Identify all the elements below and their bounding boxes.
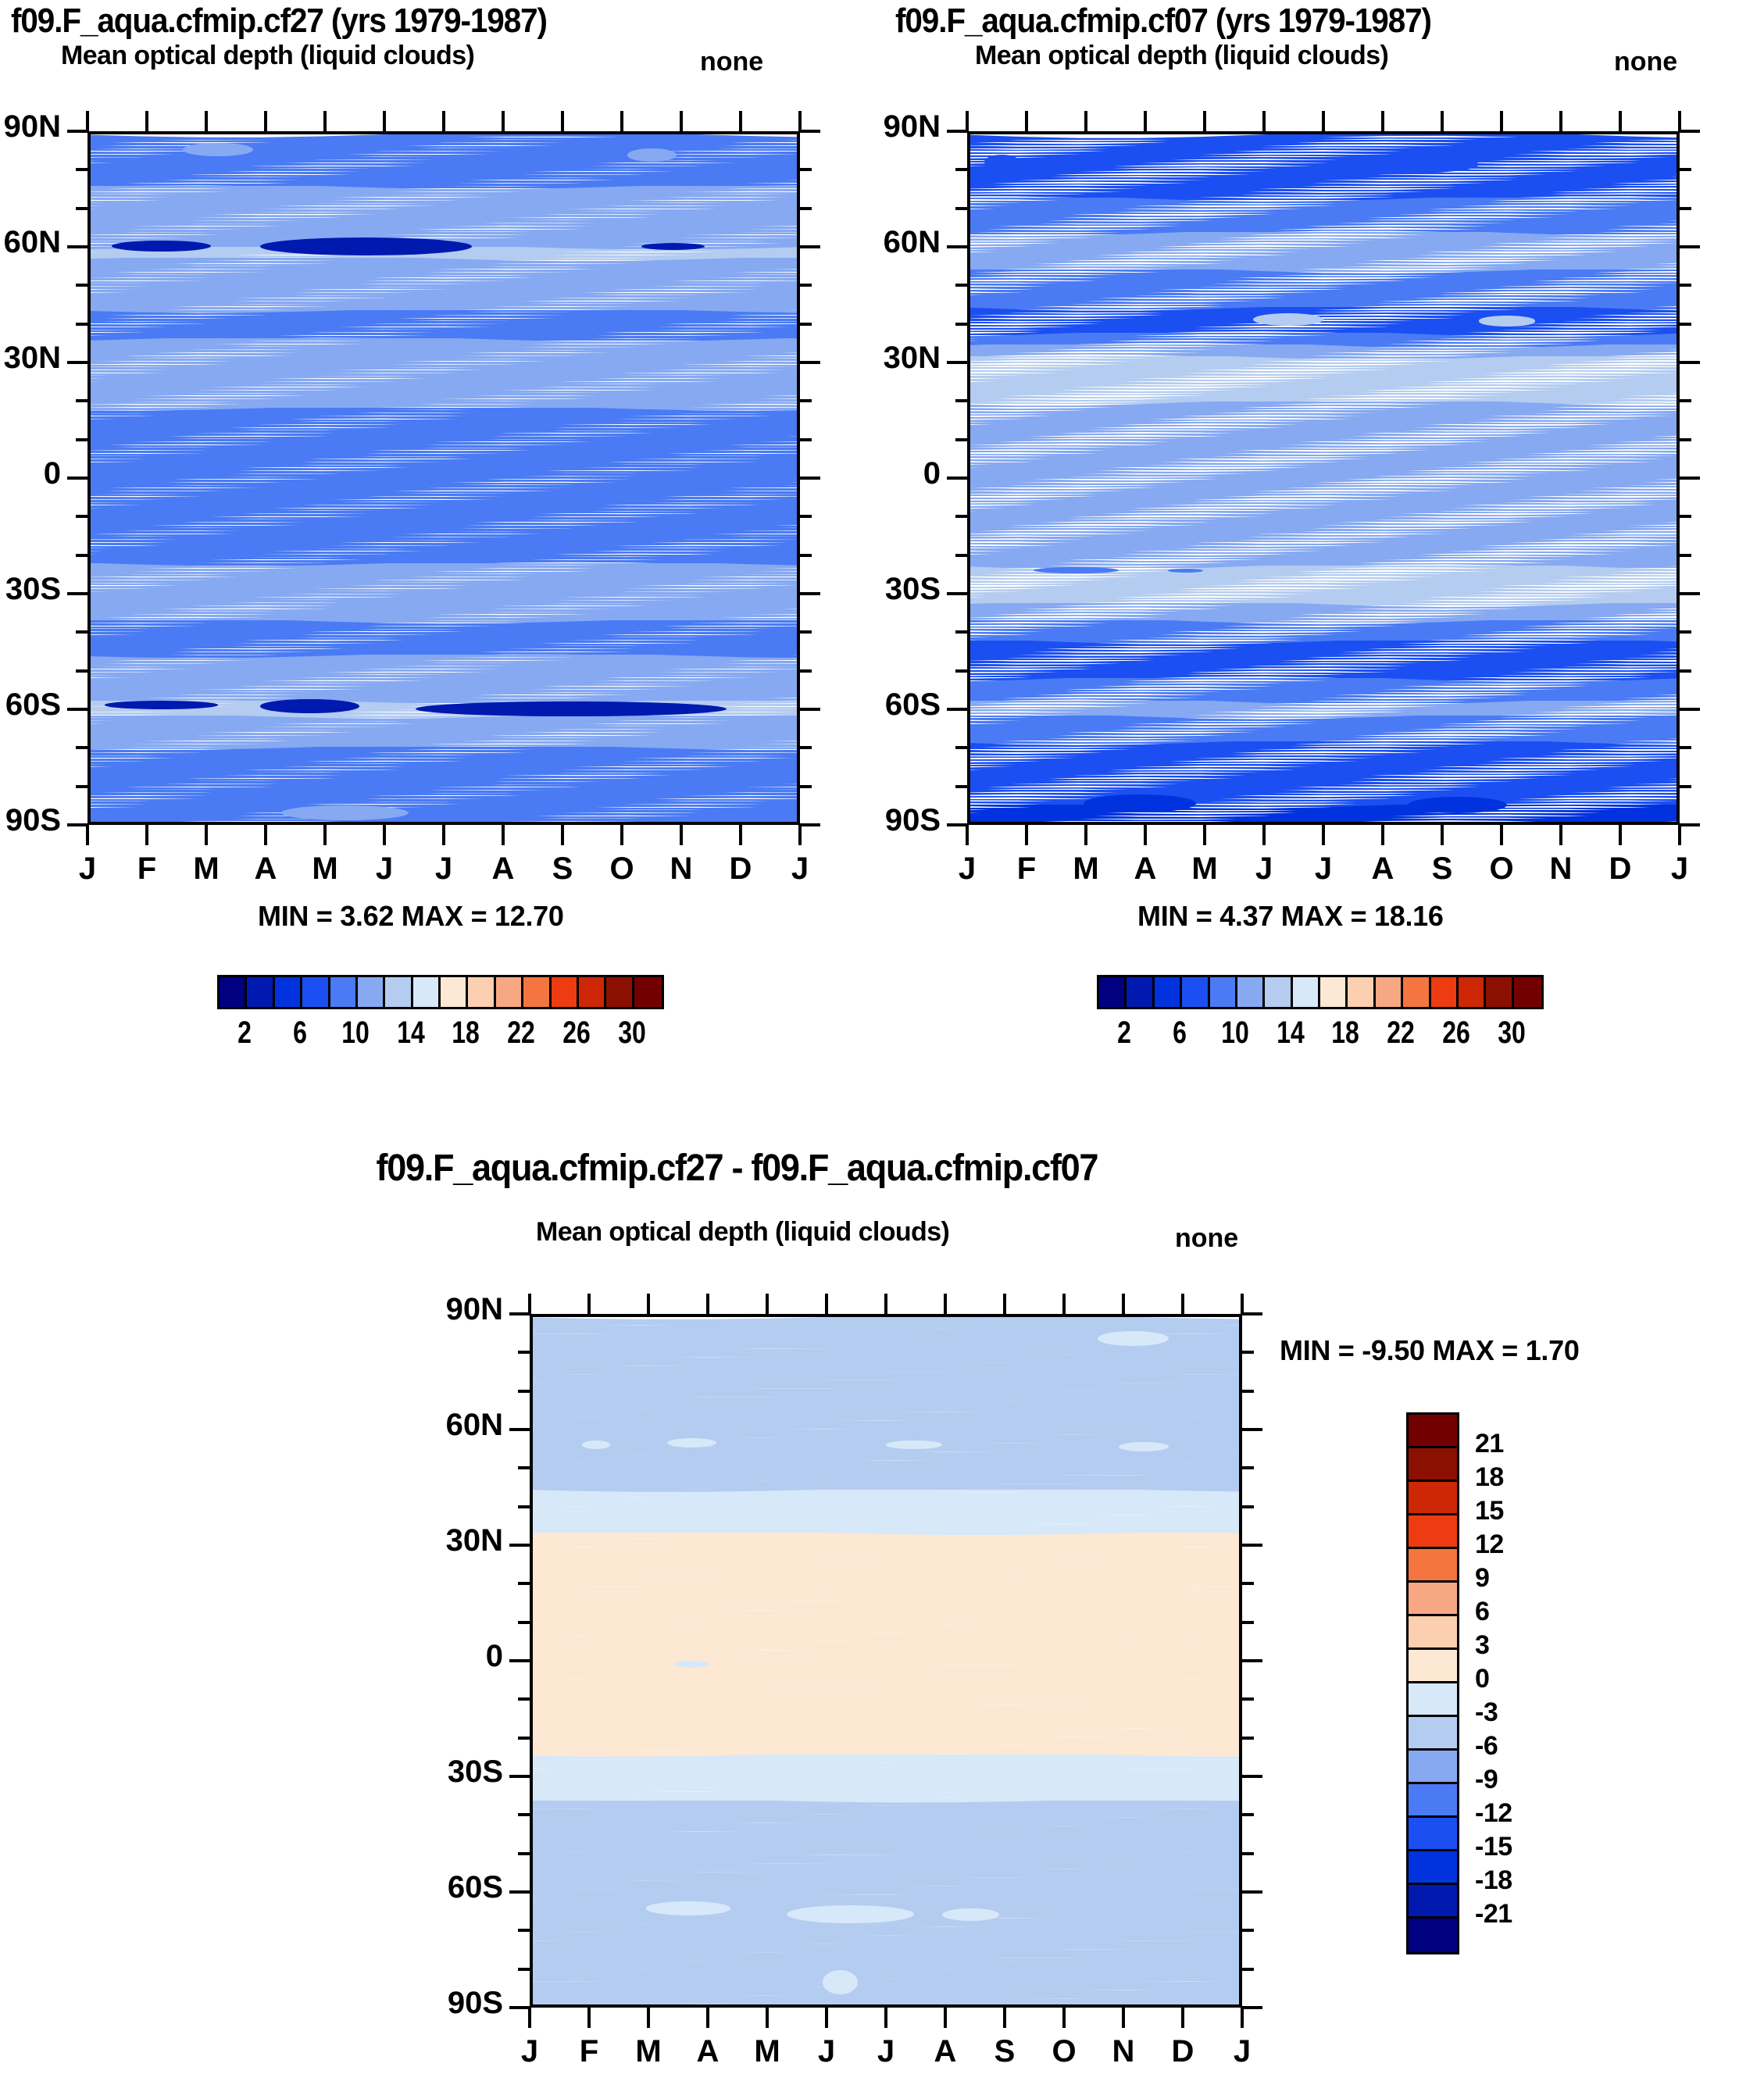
y-axis-label: 30N	[409, 1523, 503, 1558]
y-axis-major-tick	[509, 1312, 530, 1315]
y-axis-major-tick	[947, 245, 967, 248]
y-axis-minor-tick	[955, 438, 967, 441]
y-axis-tick-right	[1680, 207, 1691, 210]
x-axis-tick-bottom	[1381, 825, 1384, 845]
y-axis-minor-tick	[955, 746, 967, 749]
y-axis-tick-right	[1680, 630, 1691, 634]
colorbar-swatch	[1431, 977, 1459, 1007]
y-axis-major-tick	[947, 130, 967, 133]
colorbar-tick-label: -12	[1475, 1798, 1512, 1829]
x-axis-tick-top	[86, 111, 89, 131]
colorbar-tick-label: -3	[1475, 1697, 1498, 1728]
colorbar-tick-label: -9	[1475, 1765, 1498, 1795]
y-axis-tick-right	[800, 669, 812, 673]
x-axis-tick-top	[1084, 111, 1087, 131]
colorbar-tick-label: 30	[604, 1016, 660, 1051]
x-axis-label: A	[1355, 851, 1410, 887]
x-axis-tick-top	[502, 111, 505, 131]
y-axis-label: 60S	[0, 687, 61, 723]
x-axis-tick-bottom	[383, 825, 386, 845]
y-axis-tick-right	[1242, 2006, 1262, 2009]
colorbar-tick-label: 9	[1475, 1563, 1489, 1594]
y-axis-major-tick	[67, 130, 87, 133]
colorbar-swatch	[1210, 977, 1237, 1007]
colorbar-tick-label: 10	[327, 1016, 384, 1051]
y-axis-tick-right	[1680, 399, 1691, 402]
y-axis-minor-tick	[955, 399, 967, 402]
y-axis-minor-tick	[518, 1351, 530, 1354]
x-axis-tick-bottom	[264, 825, 267, 845]
colorbar-swatch	[1409, 1751, 1457, 1784]
y-axis-tick-right	[1242, 1351, 1254, 1354]
x-axis-label: M	[298, 851, 352, 887]
y-axis-major-tick	[509, 2006, 530, 2009]
colorbar-swatch	[523, 977, 551, 1007]
colorbar-swatch	[1376, 977, 1403, 1007]
colorbar-tick-label: 10	[1207, 1016, 1263, 1051]
y-axis-major-tick	[947, 361, 967, 364]
contour-blob	[105, 701, 218, 709]
x-axis-tick-bottom	[1003, 2008, 1006, 2028]
y-axis-tick-right	[1242, 1697, 1254, 1701]
y-axis-minor-tick	[76, 323, 87, 326]
y-axis-minor-tick	[76, 630, 87, 634]
colorbar-tick-label: 26	[1428, 1016, 1484, 1051]
x-axis-tick-bottom	[528, 2008, 531, 2028]
y-axis-tick-right	[800, 708, 820, 711]
y-axis-tick-right	[800, 592, 820, 595]
x-axis-tick-bottom	[587, 2008, 591, 2028]
contour-blob	[984, 155, 1019, 169]
y-axis-tick-right	[1680, 361, 1700, 364]
x-axis-label: J	[1296, 851, 1351, 887]
x-axis-label: J	[1652, 851, 1707, 887]
y-axis-tick-right	[1242, 1505, 1254, 1508]
contour-blob	[787, 1905, 914, 1923]
right-minmax: MIN = 4.37 MAX = 18.16	[1137, 900, 1444, 933]
y-axis-tick-right	[1680, 477, 1700, 480]
y-axis-label: 60N	[0, 225, 61, 260]
colorbar-swatch	[1409, 1818, 1457, 1851]
right-contour-field	[970, 134, 1677, 822]
contour-blob	[667, 1438, 716, 1448]
contour-blob	[886, 1440, 942, 1449]
y-axis-label: 30S	[0, 572, 61, 607]
y-axis-label: 30S	[847, 572, 941, 607]
y-axis-tick-right	[1242, 1813, 1254, 1816]
x-axis-label: O	[595, 851, 649, 887]
y-axis-minor-tick	[518, 1466, 530, 1469]
x-axis-tick-bottom	[1062, 2008, 1066, 2028]
colorbar-tick-label: 30	[1484, 1016, 1540, 1051]
colorbar-tick-label: 15	[1475, 1496, 1504, 1526]
x-axis-tick-top	[205, 111, 208, 131]
contour-blob	[823, 1970, 858, 1994]
x-axis-label: M	[1059, 851, 1113, 887]
contour-blob	[582, 1440, 610, 1449]
contour-blob	[183, 143, 253, 157]
y-axis-tick-right	[1680, 284, 1691, 287]
y-axis-tick-right	[1680, 785, 1691, 788]
contour-blob	[641, 243, 705, 250]
y-axis-minor-tick	[955, 284, 967, 287]
x-axis-tick-top	[680, 111, 683, 131]
y-axis-tick-right	[1680, 746, 1691, 749]
x-axis-tick-top	[1559, 111, 1562, 131]
x-axis-label: A	[476, 851, 530, 887]
y-axis-tick-right	[1242, 1852, 1254, 1855]
x-axis-label: J	[1215, 2034, 1269, 2069]
x-axis-tick-top	[323, 111, 327, 131]
x-axis-tick-bottom	[1084, 825, 1087, 845]
x-axis-tick-top	[1181, 1294, 1184, 1314]
y-axis-tick-right	[800, 323, 812, 326]
y-axis-minor-tick	[518, 1813, 530, 1816]
y-axis-major-tick	[67, 708, 87, 711]
colorbar-swatch	[1409, 1616, 1457, 1650]
y-axis-tick-right	[800, 746, 812, 749]
x-axis-tick-bottom	[680, 825, 683, 845]
left-minmax: MIN = 3.62 MAX = 12.70	[258, 900, 564, 933]
x-axis-label: D	[713, 851, 768, 887]
x-axis-tick-top	[528, 1294, 531, 1314]
x-axis-label: J	[940, 851, 994, 887]
y-axis-label: 90S	[409, 1986, 503, 2021]
contour-blob	[1253, 313, 1323, 326]
y-axis-label: 30N	[847, 341, 941, 376]
x-axis-tick-bottom	[647, 2008, 650, 2028]
colorbar-tick-label: -18	[1475, 1865, 1512, 1896]
colorbar-swatch	[220, 977, 247, 1007]
colorbar-tick-label: 0	[1475, 1664, 1489, 1694]
colorbar-swatch	[1486, 977, 1513, 1007]
y-axis-tick-right	[800, 245, 820, 248]
x-axis-tick-top	[587, 1294, 591, 1314]
y-axis-minor-tick	[955, 168, 967, 171]
y-axis-label: 60N	[409, 1408, 503, 1443]
y-axis-minor-tick	[518, 1505, 530, 1508]
contour-blob	[942, 1908, 998, 1921]
colorbar-swatch	[1348, 977, 1375, 1007]
x-axis-label: O	[1474, 851, 1529, 887]
colorbar-swatch	[1514, 977, 1541, 1007]
colorbar-swatch	[1409, 1583, 1457, 1616]
y-axis-label: 0	[0, 456, 61, 491]
x-axis-label: N	[654, 851, 709, 887]
colorbar-swatch	[579, 977, 606, 1007]
y-axis-label: 0	[409, 1639, 503, 1674]
x-axis-label: J	[799, 2034, 854, 2069]
x-axis-label: N	[1534, 851, 1588, 887]
colorbar-swatch	[1237, 977, 1265, 1007]
diff-panel-subtitle: Mean optical depth (liquid clouds)	[536, 1217, 949, 1248]
x-axis-label: J	[773, 851, 827, 887]
x-axis-label: J	[416, 851, 471, 887]
x-axis-tick-top	[1122, 1294, 1125, 1314]
x-axis-label: J	[859, 2034, 913, 2069]
y-axis-minor-tick	[518, 1929, 530, 1932]
contour-blob	[646, 1901, 730, 1915]
contour-blob	[260, 699, 359, 713]
y-axis-minor-tick	[76, 554, 87, 557]
x-axis-tick-bottom	[1241, 2008, 1244, 2028]
x-axis-tick-top	[766, 1294, 769, 1314]
x-axis-tick-bottom	[1262, 825, 1266, 845]
colorbar-swatch	[275, 977, 302, 1007]
colorbar-tick-label: 6	[272, 1016, 328, 1051]
x-axis-label: O	[1037, 2034, 1091, 2069]
x-axis-tick-top	[264, 111, 267, 131]
colorbar-swatch	[385, 977, 412, 1007]
y-axis-tick-right	[1242, 1312, 1262, 1315]
colorbar-tick-label: 21	[1475, 1429, 1504, 1459]
x-axis-tick-bottom	[739, 825, 742, 845]
colorbar-swatch	[413, 977, 441, 1007]
y-axis-label: 90N	[0, 109, 61, 145]
y-axis-tick-right	[1680, 708, 1700, 711]
y-axis-major-tick	[947, 477, 967, 480]
x-axis-label: A	[1118, 851, 1173, 887]
y-axis-tick-right	[800, 284, 812, 287]
x-axis-label: M	[621, 2034, 676, 2069]
y-axis-major-tick	[509, 1428, 530, 1431]
y-axis-tick-right	[800, 515, 812, 518]
y-axis-tick-right	[1242, 1659, 1262, 1662]
y-axis-tick-right	[1680, 245, 1700, 248]
left-panel-subtitle: Mean optical depth (liquid clouds)	[61, 41, 474, 71]
x-axis-label: S	[1415, 851, 1469, 887]
colorbar-tick-label: 22	[1373, 1016, 1429, 1051]
colorbar-tick-label: -21	[1475, 1899, 1512, 1929]
y-axis-tick-right	[1680, 438, 1691, 441]
x-axis-tick-top	[1500, 111, 1503, 131]
colorbar-swatch	[358, 977, 385, 1007]
x-axis-tick-top	[1144, 111, 1147, 131]
x-axis-tick-bottom	[798, 825, 802, 845]
contour-blob	[627, 148, 677, 162]
y-axis-label: 90N	[847, 109, 941, 145]
colorbar-swatch	[496, 977, 523, 1007]
y-axis-tick-right	[800, 168, 812, 171]
y-axis-major-tick	[509, 1659, 530, 1662]
y-axis-minor-tick	[76, 284, 87, 287]
y-axis-tick-right	[1680, 515, 1691, 518]
colorbar-swatch	[468, 977, 495, 1007]
colorbar-tick-label: -15	[1475, 1832, 1512, 1862]
x-axis-tick-bottom	[86, 825, 89, 845]
x-axis-label: F	[999, 851, 1054, 887]
colorbar-swatch	[1409, 1448, 1457, 1482]
x-axis-label: J	[1237, 851, 1291, 887]
y-axis-minor-tick	[518, 1737, 530, 1740]
colorbar-swatch	[1409, 1549, 1457, 1583]
colorbar-swatch	[1099, 977, 1127, 1007]
y-axis-tick-right	[800, 477, 820, 480]
colorbar-swatch	[634, 977, 662, 1007]
y-axis-minor-tick	[76, 168, 87, 171]
x-axis-tick-top	[798, 111, 802, 131]
y-axis-minor-tick	[76, 746, 87, 749]
y-axis-minor-tick	[955, 207, 967, 210]
x-axis-label: M	[179, 851, 234, 887]
colorbar-swatch	[1403, 977, 1430, 1007]
y-axis-tick-right	[800, 207, 812, 210]
x-axis-tick-bottom	[884, 2008, 887, 2028]
x-axis-tick-bottom	[502, 825, 505, 845]
y-axis-label: 30N	[0, 341, 61, 376]
y-axis-tick-right	[1242, 1737, 1254, 1740]
left-panel-title: f09.F_aqua.cfmip.cf27 (yrs 1979-1987)	[11, 2, 547, 41]
y-axis-tick-right	[1242, 1582, 1254, 1585]
x-axis-tick-bottom	[205, 825, 208, 845]
y-axis-minor-tick	[518, 1852, 530, 1855]
y-axis-tick-right	[1242, 1775, 1262, 1778]
colorbar-tick-label: 14	[383, 1016, 439, 1051]
x-axis-tick-bottom	[1322, 825, 1325, 845]
x-axis-tick-top	[1441, 111, 1444, 131]
x-axis-tick-bottom	[1122, 2008, 1125, 2028]
y-axis-minor-tick	[955, 323, 967, 326]
colorbar-tick-label: 6	[1152, 1016, 1208, 1051]
left-colorbar	[217, 975, 664, 1009]
colorbar-swatch	[1409, 1415, 1457, 1448]
y-axis-label: 60S	[847, 687, 941, 723]
colorbar-swatch	[302, 977, 330, 1007]
diff-colorbar	[1406, 1412, 1459, 1954]
y-axis-tick-right	[800, 361, 820, 364]
y-axis-tick-right	[800, 438, 812, 441]
colorbar-swatch	[1409, 1885, 1457, 1919]
y-axis-minor-tick	[76, 669, 87, 673]
y-axis-tick-right	[1680, 669, 1691, 673]
y-axis-minor-tick	[518, 1390, 530, 1393]
x-axis-tick-top	[825, 1294, 828, 1314]
y-axis-label: 60N	[847, 225, 941, 260]
x-axis-label: J	[502, 2034, 557, 2069]
x-axis-label: S	[977, 2034, 1032, 2069]
left-contour-field	[91, 134, 797, 822]
x-axis-tick-top	[944, 1294, 947, 1314]
colorbar-tick-label: 14	[1262, 1016, 1319, 1051]
x-axis-label: F	[562, 2034, 616, 2069]
y-axis-minor-tick	[76, 207, 87, 210]
x-axis-tick-top	[145, 111, 148, 131]
y-axis-tick-right	[1680, 592, 1700, 595]
y-axis-tick-right	[1242, 1544, 1262, 1547]
colorbar-tick-label: 2	[216, 1016, 273, 1051]
x-axis-label: J	[60, 851, 115, 887]
x-axis-tick-bottom	[1619, 825, 1622, 845]
y-axis-tick-right	[1242, 1466, 1254, 1469]
contour-blob	[260, 237, 472, 255]
y-axis-tick-right	[1242, 1890, 1262, 1894]
x-axis-tick-top	[1678, 111, 1681, 131]
colorbar-swatch	[1409, 1515, 1457, 1549]
colorbar-tick-label: -6	[1475, 1731, 1498, 1762]
x-axis-tick-top	[1619, 111, 1622, 131]
contour-blob	[1084, 794, 1197, 812]
x-axis-label: M	[740, 2034, 795, 2069]
colorbar-swatch	[1459, 977, 1486, 1007]
x-axis-tick-top	[1003, 1294, 1006, 1314]
x-axis-label: D	[1155, 2034, 1210, 2069]
y-axis-tick-right	[1680, 130, 1700, 133]
y-axis-minor-tick	[518, 1582, 530, 1585]
colorbar-swatch	[441, 977, 468, 1007]
right-colorbar	[1097, 975, 1544, 1009]
diff-plot-area	[530, 1314, 1242, 2008]
x-axis-label: A	[680, 2034, 735, 2069]
x-axis-label: J	[357, 851, 412, 887]
y-axis-tick-right	[1242, 1929, 1254, 1932]
colorbar-tick-label: 12	[1475, 1530, 1504, 1560]
y-axis-tick-right	[1680, 168, 1691, 171]
x-axis-tick-top	[1062, 1294, 1066, 1314]
x-axis-tick-bottom	[1678, 825, 1681, 845]
right-plot-area	[967, 131, 1680, 825]
x-axis-tick-bottom	[561, 825, 564, 845]
y-axis-major-tick	[67, 592, 87, 595]
colorbar-tick-label: 2	[1096, 1016, 1152, 1051]
y-axis-tick-right	[1242, 1428, 1262, 1431]
contour-blob	[1098, 1331, 1168, 1346]
diff-panel-title: f09.F_aqua.cfmip.cf27 - f09.F_aqua.cfmip…	[376, 1147, 1098, 1190]
contour-blob	[674, 1661, 709, 1668]
y-axis-minor-tick	[76, 785, 87, 788]
x-axis-tick-bottom	[944, 2008, 947, 2028]
x-axis-tick-top	[1203, 111, 1206, 131]
x-axis-tick-bottom	[145, 825, 148, 845]
x-axis-tick-bottom	[966, 825, 969, 845]
x-axis-tick-top	[1381, 111, 1384, 131]
colorbar-swatch	[1182, 977, 1209, 1007]
y-axis-major-tick	[67, 245, 87, 248]
y-axis-minor-tick	[76, 399, 87, 402]
y-axis-label: 90N	[409, 1292, 503, 1327]
y-axis-minor-tick	[76, 515, 87, 518]
y-axis-tick-right	[800, 785, 812, 788]
contour-blob	[281, 805, 409, 820]
right-panel-subtitle-none: none	[1614, 47, 1677, 77]
y-axis-minor-tick	[955, 554, 967, 557]
colorbar-tick-label: 18	[1475, 1462, 1504, 1493]
x-axis-tick-top	[620, 111, 623, 131]
y-axis-minor-tick	[76, 438, 87, 441]
x-axis-label: D	[1593, 851, 1648, 887]
y-axis-label: 30S	[409, 1755, 503, 1790]
x-axis-tick-bottom	[825, 2008, 828, 2028]
x-axis-tick-bottom	[442, 825, 445, 845]
y-axis-minor-tick	[518, 1621, 530, 1624]
y-axis-minor-tick	[955, 669, 967, 673]
colorbar-swatch	[330, 977, 358, 1007]
x-axis-label: N	[1096, 2034, 1151, 2069]
x-axis-tick-top	[884, 1294, 887, 1314]
x-axis-tick-top	[647, 1294, 650, 1314]
y-axis-label: 90S	[847, 803, 941, 838]
right-panel-subtitle: Mean optical depth (liquid clouds)	[975, 41, 1388, 71]
x-axis-tick-bottom	[766, 2008, 769, 2028]
x-axis-tick-bottom	[1559, 825, 1562, 845]
contour-blob	[1479, 316, 1535, 326]
y-axis-minor-tick	[518, 1697, 530, 1701]
y-axis-major-tick	[67, 361, 87, 364]
colorbar-swatch	[1293, 977, 1320, 1007]
y-axis-tick-right	[800, 823, 820, 826]
x-axis-tick-bottom	[1025, 825, 1028, 845]
y-axis-major-tick	[67, 823, 87, 826]
colorbar-swatch	[247, 977, 274, 1007]
